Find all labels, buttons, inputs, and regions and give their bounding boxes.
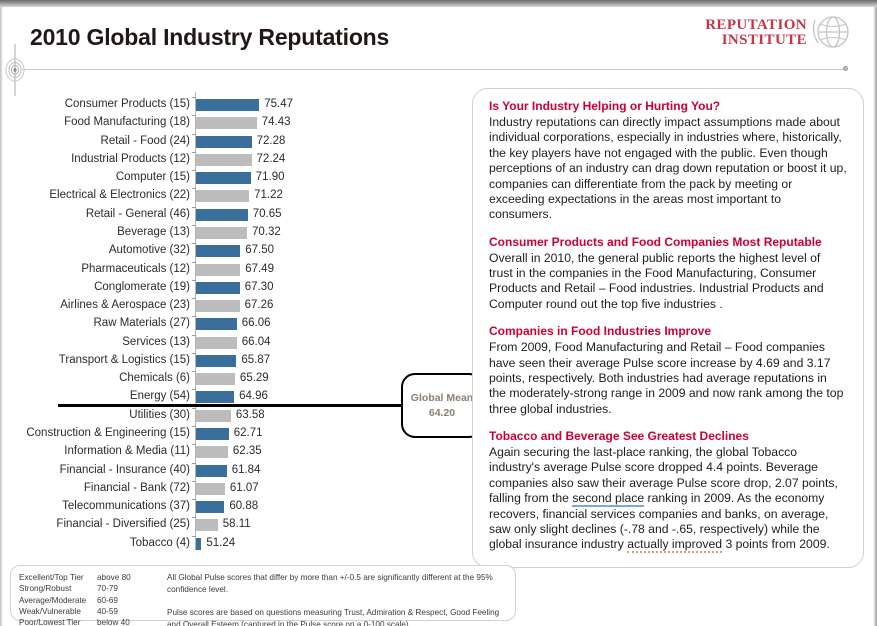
chart-axis-tick: [192, 170, 196, 171]
crosshair-target-icon: [4, 44, 26, 96]
chart-bar: [196, 172, 251, 184]
chart-bar: [196, 446, 228, 458]
chart-row: Conglomerate (19)67.30: [0, 280, 470, 298]
chart-category-label: Financial - Diversified (25): [0, 518, 190, 530]
chart-category-label: Computer (15): [0, 171, 190, 183]
chart-category-label: Retail - General (46): [0, 208, 190, 220]
footnotes: All Global Pulse scores that differ by m…: [159, 572, 507, 614]
chart-bar: [196, 410, 231, 422]
chart-bar: [196, 117, 257, 129]
chart-value-label: 70.65: [253, 208, 282, 220]
chart-value-label: 67.49: [245, 263, 274, 275]
chart-axis-tick: [192, 463, 196, 464]
slide-canvas: 2010 Global Industry Reputations REPUTAT…: [0, 0, 877, 626]
footnote-1: All Global Pulse scores that differ by m…: [167, 572, 507, 595]
tier-row: Excellent/Top Tierabove 80: [19, 572, 159, 583]
chart-bar: [196, 337, 237, 349]
chart-bar: [196, 483, 225, 495]
section-heading: Consumer Products and Food Companies Mos…: [489, 235, 847, 250]
chart-category-label: Chemicals (6): [0, 372, 190, 384]
global-mean-line: [58, 404, 404, 407]
chart-axis-tick: [192, 188, 196, 189]
global-mean-value: 64.20: [429, 406, 455, 420]
chart-axis-tick: [192, 536, 196, 537]
logo-line-1: REPUTATION: [705, 18, 807, 33]
footnote-2: Pulse scores are based on questions meas…: [167, 607, 507, 626]
chart-bar: [196, 318, 237, 330]
chart-value-label: 65.29: [240, 372, 269, 384]
chart-value-label: 70.32: [252, 226, 281, 238]
chart-value-label: 61.84: [232, 464, 261, 476]
chart-axis-tick: [192, 444, 196, 445]
tier-name: Strong/Robust: [19, 583, 97, 594]
panel-section-greatest-declines: Tobacco and Beverage See Greatest Declin…: [489, 429, 847, 553]
panel-section-food-improve: Companies in Food Industries Improve Fro…: [489, 324, 847, 417]
chart-category-label: Tobacco (4): [0, 537, 190, 549]
section-heading: Companies in Food Industries Improve: [489, 324, 847, 339]
chart-value-label: 62.71: [234, 427, 263, 439]
chart-row: Beverage (13)70.32: [0, 225, 470, 243]
chart-row: Retail - Food (24)72.28: [0, 134, 470, 152]
chart-bar: [196, 282, 240, 294]
chart-row: Services (13)66.04: [0, 335, 470, 353]
section-body: From 2009, Food Manufacturing and Retail…: [489, 340, 847, 417]
chart-row: Transport & Logistics (15)65.87: [0, 353, 470, 371]
tier-range: below 40: [97, 617, 157, 626]
window-right-edge: [873, 7, 877, 626]
chart-category-label: Beverage (13): [0, 226, 190, 238]
section-body: Overall in 2010, the general public repo…: [489, 251, 847, 313]
chart-axis-tick: [192, 353, 196, 354]
chart-row: Financial - Insurance (40)61.84: [0, 463, 470, 481]
tier-range: 70-79: [97, 583, 157, 594]
chart-value-label: 67.50: [245, 244, 274, 256]
chart-row: Financial - Bank (72)61.07: [0, 481, 470, 499]
link-second-place[interactable]: second place: [572, 491, 644, 507]
logo-line-2: INSTITUTE: [705, 33, 807, 48]
chart-value-label: 60.88: [229, 500, 258, 512]
chart-row: Construction & Engineering (15)62.71: [0, 426, 470, 444]
window-top-strip: [0, 0, 877, 7]
chart-value-label: 75.47: [264, 98, 293, 110]
chart-category-label: Industrial Products (12): [0, 153, 190, 165]
chart-bar: [196, 428, 229, 440]
chart-bar: [196, 245, 240, 257]
chart-row: Chemicals (6)65.29: [0, 371, 470, 389]
chart-row: Utilities (30)63.58: [0, 408, 470, 426]
chart-value-label: 58.11: [223, 518, 251, 530]
chart-row: Information & Media (11)62.35: [0, 444, 470, 462]
reputation-institute-logo: REPUTATION INSTITUTE: [705, 10, 855, 56]
tier-name: Poor/Lowest Tier: [19, 617, 97, 626]
tier-range: above 80: [97, 572, 157, 583]
page-title: 2010 Global Industry Reputations: [30, 24, 389, 51]
chart-axis-tick: [192, 499, 196, 500]
chart-axis-tick: [192, 262, 196, 263]
chart-row: Raw Materials (27)66.06: [0, 316, 470, 334]
chart-category-label: Airlines & Aerospace (23): [0, 299, 190, 311]
chart-bar: [196, 264, 240, 276]
chart-category-label: Telecommunications (37): [0, 500, 190, 512]
chart-value-label: 66.04: [242, 336, 271, 348]
chart-axis-tick: [192, 481, 196, 482]
section-body: Again securing the last-place ranking, t…: [489, 445, 847, 553]
chart-axis-tick: [192, 335, 196, 336]
chart-axis-tick: [192, 225, 196, 226]
global-mean-callout: Global Mean 64.20: [401, 373, 483, 438]
chart-axis-tick: [192, 97, 196, 98]
chart-value-label: 66.06: [242, 317, 271, 329]
chart-row: Computer (15)71.90: [0, 170, 470, 188]
chart-axis-tick: [192, 426, 196, 427]
tier-range: 60-69: [97, 595, 157, 606]
chart-value-label: 72.24: [257, 153, 286, 165]
chart-row: Tobacco (4)51.24: [0, 536, 470, 554]
section-heading: Tobacco and Beverage See Greatest Declin…: [489, 429, 847, 444]
chart-axis-tick: [192, 207, 196, 208]
chart-category-label: Information & Media (11): [0, 445, 190, 457]
chart-row: Industrial Products (12)72.24: [0, 152, 470, 170]
chart-bar: [196, 355, 236, 367]
chart-axis-tick: [192, 408, 196, 409]
chart-row: Financial - Diversified (25)58.11: [0, 517, 470, 535]
chart-axis-tick: [192, 316, 196, 317]
chart-value-label: 71.90: [256, 171, 285, 183]
chart-axis-tick: [192, 134, 196, 135]
chart-bar: [196, 154, 252, 166]
chart-value-label: 62.35: [233, 445, 262, 457]
chart-category-label: Construction & Engineering (15): [0, 427, 190, 439]
chart-category-label: Retail - Food (24): [0, 135, 190, 147]
chart-value-label: 74.43: [262, 116, 291, 128]
chart-category-label: Food Manufacturing (18): [0, 116, 190, 128]
chart-category-label: Financial - Bank (72): [0, 482, 190, 494]
footer-legend-box: Excellent/Top Tierabove 80Strong/Robust7…: [10, 565, 516, 621]
industry-reputation-bar-chart: Consumer Products (15)75.47Food Manufact…: [0, 92, 470, 562]
tier-legend: Excellent/Top Tierabove 80Strong/Robust7…: [19, 572, 159, 614]
chart-category-label: Raw Materials (27): [0, 317, 190, 329]
chart-category-label: Consumer Products (15): [0, 98, 190, 110]
tier-row: Weak/Vulnerable40-59: [19, 606, 159, 617]
chart-bar: [196, 538, 201, 550]
chart-axis-tick: [192, 152, 196, 153]
chart-axis-tick: [192, 243, 196, 244]
tier-row: Average/Moderate60-69: [19, 595, 159, 606]
tier-row: Strong/Robust70-79: [19, 583, 159, 594]
panel-section-industry-helping: Is Your Industry Helping or Hurting You?…: [489, 99, 847, 223]
globe-icon: [809, 10, 855, 56]
chart-value-label: 71.22: [254, 189, 283, 201]
chart-row: Electrical & Electronics (22)71.22: [0, 188, 470, 206]
chart-category-label: Electrical & Electronics (22): [0, 189, 190, 201]
chart-value-label: 65.87: [241, 354, 270, 366]
chart-row: Automotive (32)67.50: [0, 243, 470, 261]
tier-row: Poor/Lowest Tierbelow 40: [19, 617, 159, 626]
chart-axis-tick: [192, 298, 196, 299]
header-divider-end-dot: [843, 66, 848, 71]
chart-bar: [196, 465, 227, 477]
annotation-actually-improved: actually improved: [627, 537, 722, 553]
chart-value-label: 67.26: [245, 299, 274, 311]
section-body: Industry reputations can directly impact…: [489, 115, 847, 223]
chart-category-label: Transport & Logistics (15): [0, 354, 190, 366]
chart-value-label: 72.28: [257, 135, 286, 147]
chart-axis-tick: [192, 389, 196, 390]
chart-category-label: Automotive (32): [0, 244, 190, 256]
chart-row: Food Manufacturing (18)74.43: [0, 115, 470, 133]
chart-value-label: 64.96: [239, 390, 268, 402]
chart-bar: [196, 501, 224, 513]
chart-category-label: Pharmaceuticals (12): [0, 263, 190, 275]
chart-axis-tick: [192, 517, 196, 518]
chart-bar: [196, 227, 247, 239]
section-heading: Is Your Industry Helping or Hurting You?: [489, 99, 847, 114]
header-divider: [22, 69, 846, 70]
chart-category-label: Utilities (30): [0, 409, 190, 421]
chart-bar: [196, 190, 249, 202]
commentary-panel: Is Your Industry Helping or Hurting You?…: [472, 88, 864, 568]
tier-name: Weak/Vulnerable: [19, 606, 97, 617]
chart-row: Consumer Products (15)75.47: [0, 97, 470, 115]
panel-section-most-reputable: Consumer Products and Food Companies Mos…: [489, 235, 847, 313]
chart-bar: [196, 391, 234, 403]
chart-category-label: Conglomerate (19): [0, 281, 190, 293]
chart-bar: [196, 136, 252, 148]
chart-value-label: 63.58: [236, 409, 265, 421]
chart-category-label: Services (13): [0, 336, 190, 348]
chart-bar: [196, 99, 259, 111]
chart-category-label: Energy (54): [0, 390, 190, 402]
chart-row: Telecommunications (37)60.88: [0, 499, 470, 517]
chart-category-label: Financial - Insurance (40): [0, 464, 190, 476]
chart-bar: [196, 300, 240, 312]
logo-wordmark: REPUTATION INSTITUTE: [705, 18, 807, 49]
body-text-part-3: 3 points from 2009.: [722, 537, 830, 551]
chart-bar: [196, 209, 248, 221]
chart-value-label: 51.24: [206, 537, 235, 549]
chart-axis-tick: [192, 371, 196, 372]
chart-row: Retail - General (46)70.65: [0, 207, 470, 225]
chart-value-label: 61.07: [230, 482, 259, 494]
tier-name: Average/Moderate: [19, 595, 97, 606]
tier-range: 40-59: [97, 606, 157, 617]
chart-row: Pharmaceuticals (12)67.49: [0, 262, 470, 280]
chart-bar: [196, 519, 218, 531]
chart-value-label: 67.30: [245, 281, 274, 293]
global-mean-label: Global Mean: [411, 391, 473, 405]
chart-axis-tick: [192, 280, 196, 281]
chart-bar: [196, 373, 235, 385]
chart-row: Airlines & Aerospace (23)67.26: [0, 298, 470, 316]
chart-axis-tick: [192, 115, 196, 116]
tier-name: Excellent/Top Tier: [19, 572, 97, 583]
